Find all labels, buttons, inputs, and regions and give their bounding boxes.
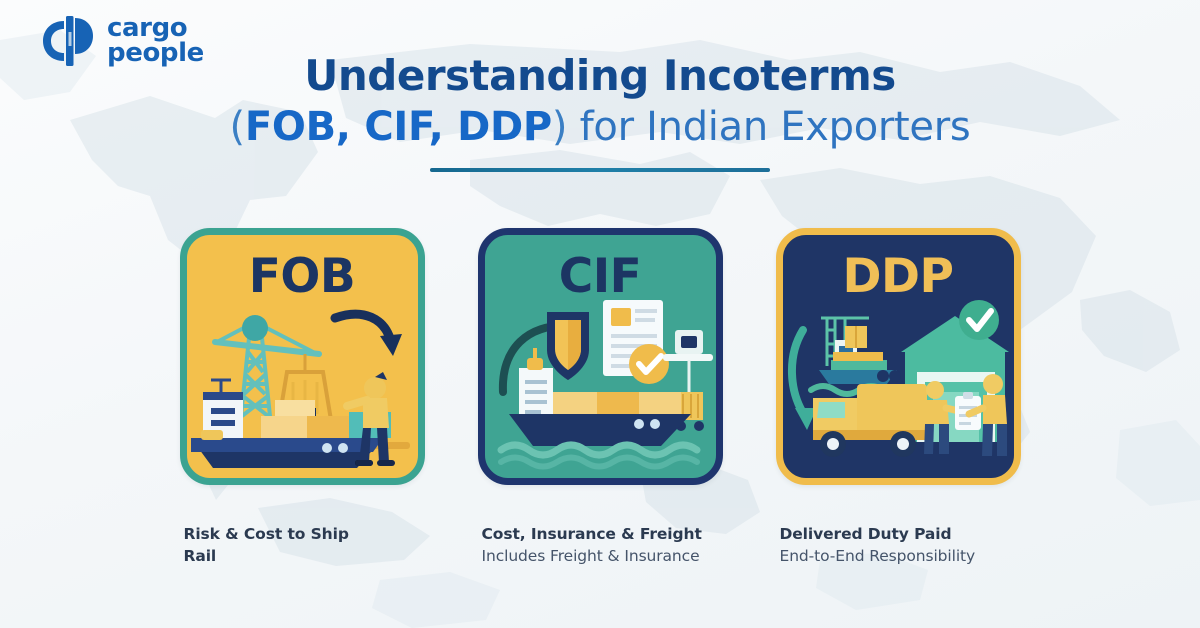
caption-sub-fob: Rail [184,545,425,567]
card-code-fob: FOB [249,253,355,300]
incoterm-column-fob: FOB [180,228,425,567]
caption-fob: Risk & Cost to Ship Rail [180,523,425,567]
crane-loading-container-ship-icon [187,296,418,478]
incoterm-code-fob: FOB [245,104,336,150]
truck-warehouse-delivery-handover-icon [783,296,1014,478]
caption-sub-ddp: End-to-End Responsibility [780,545,1021,567]
subtitle-open-paren: ( [230,104,245,150]
incoterm-column-cif: CIF [478,228,723,567]
subtitle-close-paren: ) [552,104,567,150]
caption-title-ddp: Delivered Duty Paid [780,523,1021,545]
subtitle-separator-1: , [336,104,365,150]
caption-title-cif: Cost, Insurance & Freight [482,523,723,545]
caption-ddp: Delivered Duty Paid End-to-End Responsib… [776,523,1021,567]
poster-canvas: cargo people Understanding Incoterms (FO… [0,0,1200,628]
page-title: Understanding Incoterms [0,52,1200,100]
subtitle-separator-2: , [429,104,458,150]
card-code-ddp: DDP [843,253,954,300]
incoterm-code-cif: CIF [364,104,428,150]
incoterm-column-ddp: DDP [776,228,1021,567]
caption-cif: Cost, Insurance & Freight Includes Freig… [478,523,723,567]
incoterm-code-ddp: DDP [457,104,552,150]
incoterm-card-ddp[interactable]: DDP [776,228,1021,485]
caption-sub-cif: Includes Freight & Insurance [482,545,723,567]
incoterm-card-cif[interactable]: CIF [478,228,723,485]
incoterm-card-fob[interactable]: FOB [180,228,425,485]
title-divider [430,168,770,172]
headline-block: Understanding Incoterms (FOB, CIF, DDP) … [0,52,1200,172]
subtitle-tail: for Indian Exporters [567,104,970,150]
shield-document-ship-insurance-icon [485,296,716,478]
card-code-cif: CIF [559,253,642,300]
incoterm-card-row: FOB [0,228,1200,567]
caption-title-fob: Risk & Cost to Ship [184,523,425,545]
page-subtitle: (FOB, CIF, DDP) for Indian Exporters [0,100,1200,154]
